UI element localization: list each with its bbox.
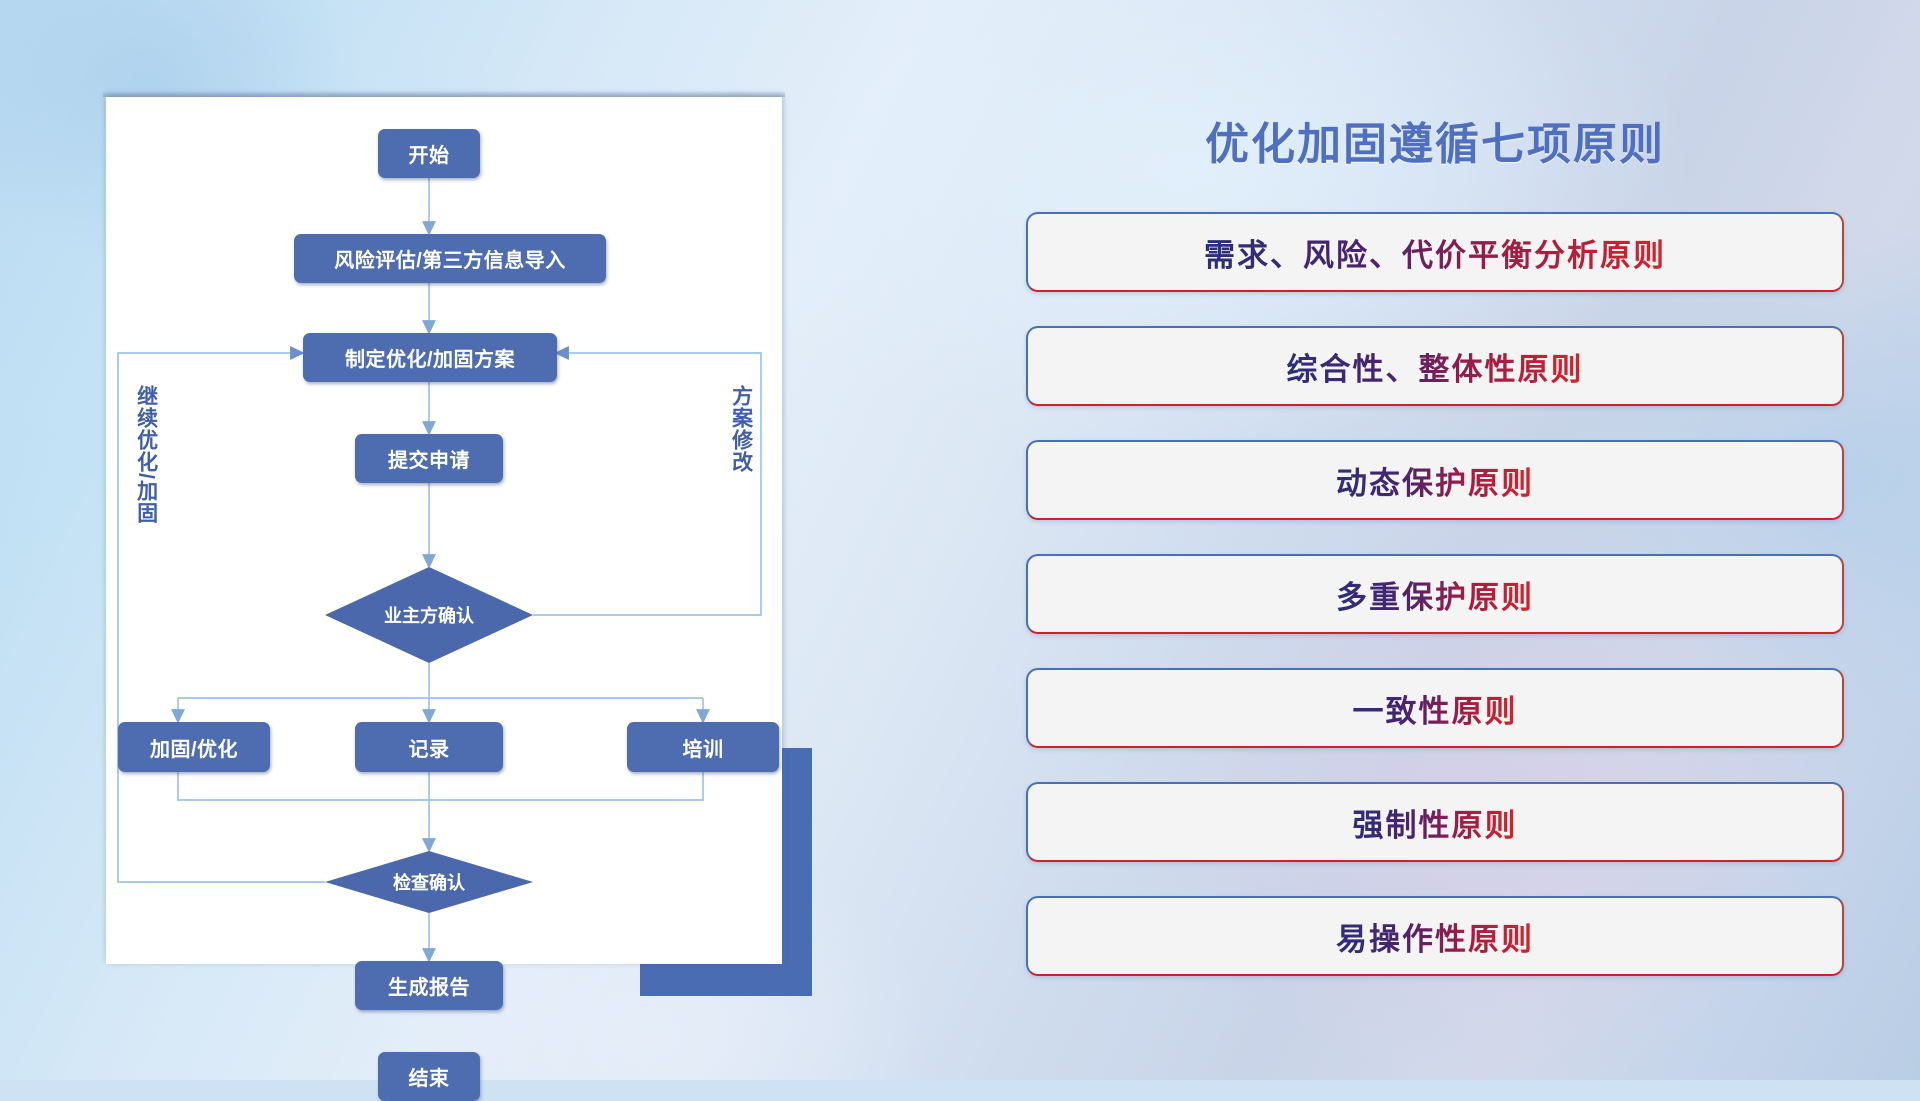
loop-label-plan-revision: 方案修改 (729, 385, 752, 505)
panel-title: 优化加固遵循七项原则 (1010, 108, 1860, 172)
flow-node-record[interactable]: 记录 (355, 722, 503, 772)
flow-node-make-plan[interactable]: 制定优化/加固方案 (303, 333, 557, 382)
principle-card-5[interactable]: 一致性原则 (1026, 668, 1844, 748)
principle-label: 强制性原则 (1353, 800, 1518, 845)
principle-label: 需求、风险、代价平衡分析原则 (1204, 230, 1666, 275)
loop-label-continue-optimize: 继续优化/加固 (134, 385, 157, 555)
flowchart-card: 开始 风险评估/第三方信息导入 制定优化/加固方案 提交申请 业主方确认 加固/… (106, 97, 782, 964)
principles-panel: 优化加固遵循七项原则 需求、风险、代价平衡分析原则 综合性、整体性原则 动态保护… (1010, 80, 1860, 1020)
principle-label: 多重保护原则 (1336, 572, 1534, 617)
flow-node-submit-application[interactable]: 提交申请 (355, 434, 503, 483)
flow-node-start[interactable]: 开始 (378, 129, 480, 178)
principle-card-1[interactable]: 需求、风险、代价平衡分析原则 (1026, 212, 1844, 292)
principle-card-6[interactable]: 强制性原则 (1026, 782, 1844, 862)
principle-card-2[interactable]: 综合性、整体性原则 (1026, 326, 1844, 406)
principle-card-7[interactable]: 易操作性原则 (1026, 896, 1844, 976)
principle-label: 综合性、整体性原则 (1287, 344, 1584, 389)
principle-card-4[interactable]: 多重保护原则 (1026, 554, 1844, 634)
flow-node-risk-assessment[interactable]: 风险评估/第三方信息导入 (294, 234, 606, 283)
principle-label: 动态保护原则 (1336, 458, 1534, 503)
flow-node-reinforce-optimize[interactable]: 加固/优化 (118, 722, 270, 772)
flowchart-connectors (106, 97, 782, 964)
flow-node-training[interactable]: 培训 (627, 722, 779, 772)
principle-card-3[interactable]: 动态保护原则 (1026, 440, 1844, 520)
flow-node-generate-report[interactable]: 生成报告 (355, 961, 503, 1010)
principle-label: 一致性原则 (1353, 686, 1518, 731)
flow-node-end[interactable]: 结束 (378, 1052, 480, 1101)
principle-label: 易操作性原则 (1336, 914, 1534, 959)
